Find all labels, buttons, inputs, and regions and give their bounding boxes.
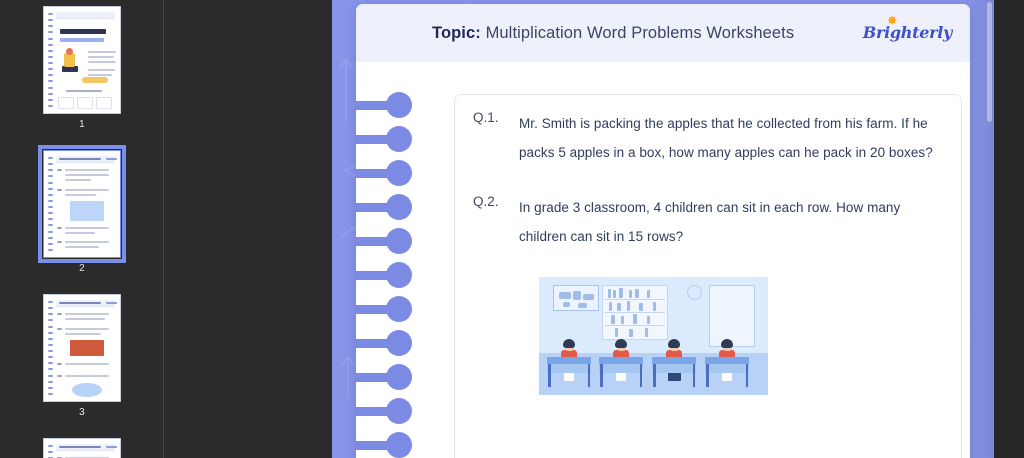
thumbnail-page-4[interactable]: 4 <box>0 438 164 458</box>
spiral-ring <box>356 330 412 356</box>
spiral-ring <box>356 160 412 186</box>
question-text: Mr. Smith is packing the apples that he … <box>519 109 943 167</box>
question-text: In grade 3 classroom, 4 children can sit… <box>519 193 943 251</box>
topic-label: Topic: <box>432 24 481 42</box>
worksheet-topic: Topic: Multiplication Word Problems Work… <box>432 24 794 43</box>
sparkle-icon: ✸ <box>887 14 899 25</box>
spiral-ring <box>356 398 412 424</box>
thumbnail-preview-4[interactable] <box>43 438 121 458</box>
spiral-binding <box>356 4 432 458</box>
spiral-ring <box>356 432 412 458</box>
thumbnail-spiral-4 <box>48 445 53 458</box>
thumbnail-cover-title-1 <box>60 29 106 34</box>
worksheet-header: Topic: Multiplication Word Problems Work… <box>356 4 970 62</box>
thumbnail-cta-button-1 <box>82 77 108 83</box>
door-icon <box>709 285 755 347</box>
spiral-ring <box>356 262 412 288</box>
thumbnail-preview-2[interactable] <box>43 150 121 258</box>
sidebar-divider <box>163 0 164 458</box>
thumbnail-page-3[interactable]: 3 <box>0 294 164 418</box>
topic-value: Multiplication Word Problems Worksheets <box>486 24 795 42</box>
clock-icon <box>687 285 702 300</box>
document-viewer[interactable]: Topic: Multiplication Word Problems Work… <box>332 0 994 458</box>
thumbnail-header-band-2 <box>56 156 115 163</box>
thumbnail-spiral-2 <box>48 157 53 251</box>
thumbnail-page-1[interactable]: 1 <box>0 6 164 130</box>
spiral-ring <box>356 126 412 152</box>
thumbnail-header-band-1 <box>56 12 115 19</box>
questions-container: Q.1. Mr. Smith is packing the apples tha… <box>454 94 962 458</box>
spiral-ring <box>356 296 412 322</box>
question-item: Q.2. In grade 3 classroom, 4 children ca… <box>473 193 943 251</box>
question-item: Q.1. Mr. Smith is packing the apples tha… <box>473 109 943 167</box>
question-number: Q.2. <box>473 193 519 251</box>
thumbnail-header-band-4 <box>56 444 115 451</box>
student-desk <box>547 339 591 387</box>
question-number: Q.1. <box>473 109 519 167</box>
thumbnail-header-band-3 <box>56 300 115 307</box>
classroom-illustration <box>539 277 768 395</box>
thumbnail-feature-cards-1 <box>58 97 112 109</box>
thumbnail-page-2[interactable]: 2 <box>0 150 164 274</box>
student-desk <box>599 339 643 387</box>
thumbnail-preview-1[interactable] <box>43 6 121 114</box>
viewer-edge-shadow <box>964 0 994 458</box>
thumbnail-cover-subtitle-1 <box>60 38 104 42</box>
thumbnail-page-number-2: 2 <box>79 263 85 274</box>
spiral-ring <box>356 92 412 118</box>
thumbnail-cover-illustration-1 <box>60 47 82 73</box>
thumbnail-spiral-3 <box>48 301 53 395</box>
thumbnail-page-number-3: 3 <box>79 407 85 418</box>
pdf-viewer-app: 1 <box>0 0 1024 458</box>
thumbnail-spiral-1 <box>48 13 53 107</box>
student-desk <box>652 339 696 387</box>
thumbnail-page-number-1: 1 <box>79 119 85 130</box>
spiral-ring <box>356 228 412 254</box>
thumbnail-sidebar[interactable]: 1 <box>0 0 164 458</box>
worksheet-page[interactable]: Topic: Multiplication Word Problems Work… <box>356 4 970 458</box>
world-map-icon <box>553 285 599 311</box>
spiral-ring <box>356 194 412 220</box>
spiral-ring <box>356 364 412 390</box>
right-gutter <box>994 0 1024 458</box>
brighterly-logo: ✸ Brighterly <box>863 23 952 42</box>
bookshelf-icon <box>602 285 668 340</box>
student-desk <box>705 339 749 387</box>
viewer-gutter <box>165 0 332 458</box>
thumbnail-preview-3[interactable] <box>43 294 121 402</box>
brand-name: Brighterly <box>863 23 952 42</box>
